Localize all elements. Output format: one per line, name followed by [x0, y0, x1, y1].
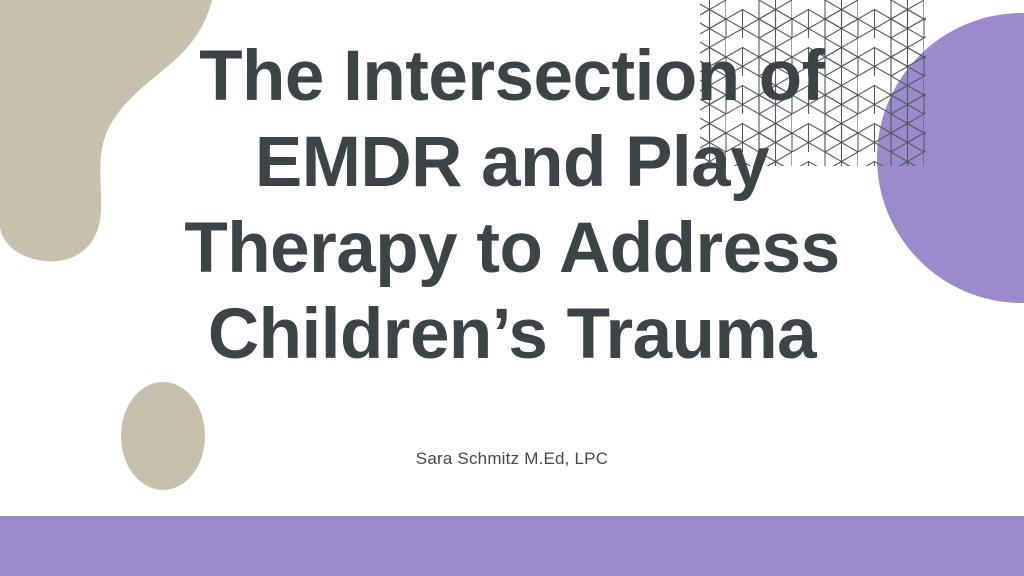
slide-content: The Intersection of EMDR and Play Therap… [0, 0, 1024, 576]
title-line-2: EMDR and Play [117, 120, 907, 206]
title-line-1: The Intersection of [117, 34, 907, 120]
presenter-name: Sara Schmitz M.Ed, LPC [162, 449, 862, 469]
purple-footer-bar [0, 516, 1024, 576]
title-line-3: Therapy to Address [117, 206, 907, 292]
title-slide: The Intersection of EMDR and Play Therap… [0, 0, 1024, 576]
page-title: The Intersection of EMDR and Play Therap… [117, 34, 907, 378]
title-line-4: Children’s Trauma [117, 292, 907, 378]
